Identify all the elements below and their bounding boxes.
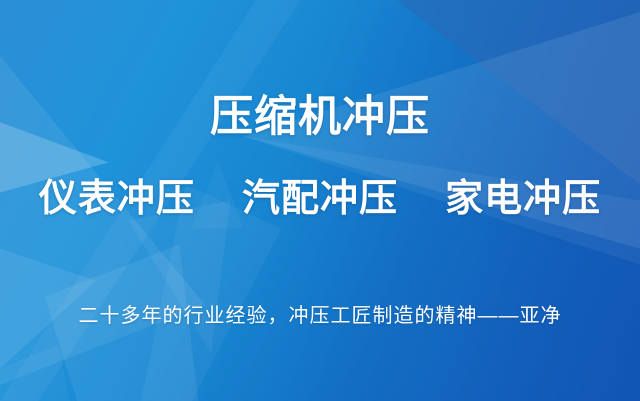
banner-tagline: 二十多年的行业经验，冲压工匠制造的精神——亚净 <box>0 304 640 328</box>
subline-segment-3: 家电冲压 <box>445 180 601 218</box>
subline-segment-1: 仪表冲压 <box>39 180 195 218</box>
banner-headline: 压缩机冲压 <box>0 96 640 139</box>
banner-subline: 仪表冲压 汽配冲压 家电冲压 <box>0 180 640 218</box>
promo-banner: 压缩机冲压 仪表冲压 汽配冲压 家电冲压 二十多年的行业经验，冲压工匠制造的精神… <box>0 0 640 401</box>
banner-content: 压缩机冲压 仪表冲压 汽配冲压 家电冲压 二十多年的行业经验，冲压工匠制造的精神… <box>0 0 640 401</box>
subline-segment-2: 汽配冲压 <box>242 180 398 218</box>
